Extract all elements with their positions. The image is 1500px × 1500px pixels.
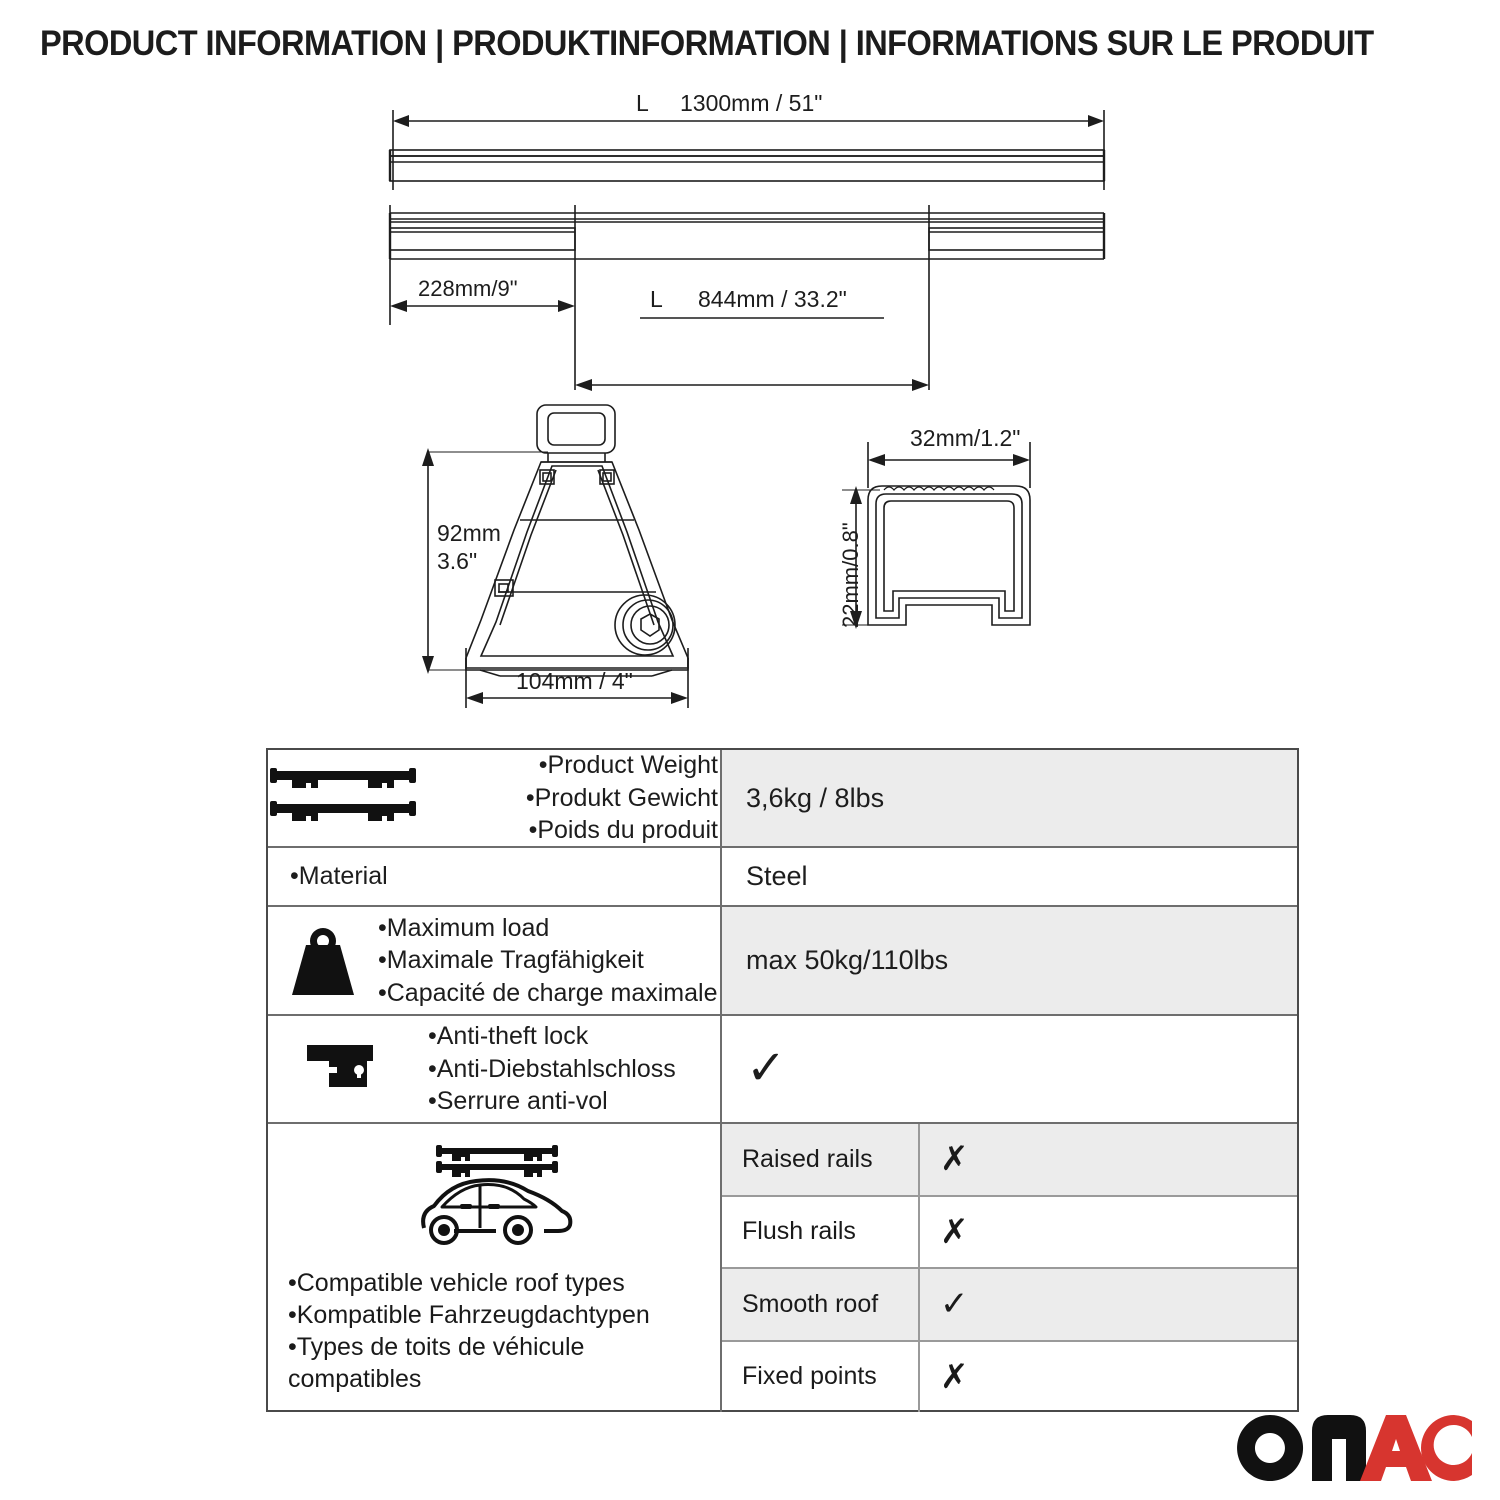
roof-type-value: ✗ (918, 1124, 1297, 1195)
roof-types-subtable: Raised rails ✗ Flush rails ✗ Smooth roof… (720, 1124, 1297, 1412)
vehicle-labels: •Compatible vehicle roof types •Kompatib… (268, 1267, 650, 1395)
lock-icon (268, 1041, 428, 1097)
span-value: 844mm / 33.2" (698, 286, 847, 313)
roof-type-name: Smooth roof (722, 1269, 918, 1340)
foot-offset-value: 228mm/9" (418, 276, 518, 302)
status-badge: ✗ (940, 1360, 969, 1394)
spec-label-material: •Material (290, 860, 388, 893)
roof-type-name: Fixed points (722, 1342, 918, 1413)
car-with-roof-bars-icon (408, 1142, 580, 1253)
foot-height-line1: 92mm (437, 520, 501, 547)
spec-label-fr: •Serrure anti-vol (428, 1085, 676, 1118)
spec-label-fr: •Capacité de charge maximale (378, 977, 717, 1010)
spec-label-de: •Produkt Gewicht (418, 782, 718, 815)
spec-label-cell: •Maximum load •Maximale Tragfähigkeit •C… (268, 907, 720, 1014)
spec-label-cell: •Anti-theft lock •Anti-Diebstahlschloss … (268, 1016, 720, 1122)
spec-label-en: •Maximum load (378, 912, 717, 945)
status-badge: ✓ (746, 1045, 786, 1093)
vehicle-label-fr: •Types de toits de véhicule (288, 1331, 650, 1363)
roof-type-row-flush-rails: Flush rails ✗ (722, 1197, 1297, 1270)
weight-icon (268, 923, 378, 999)
table-row: •Compatible vehicle roof types •Kompatib… (268, 1124, 1297, 1412)
spec-label-fr: •Poids du produit (418, 814, 718, 847)
roof-type-name: Flush rails (722, 1197, 918, 1268)
spec-label-cell: •Product Weight •Produkt Gewicht •Poids … (268, 750, 720, 846)
spec-value-material: Steel (720, 848, 1297, 905)
omac-logo (1236, 1413, 1476, 1483)
foot-height-line2: 3.6" (437, 548, 477, 575)
roof-type-name: Raised rails (722, 1124, 918, 1195)
table-row: •Product Weight •Produkt Gewicht •Poids … (268, 750, 1297, 848)
status-badge: ✗ (940, 1215, 969, 1249)
foot-width-value: 104mm / 4" (516, 668, 633, 695)
roof-type-value: ✓ (918, 1269, 1297, 1340)
spec-value-weight: 3,6kg / 8lbs (720, 750, 1297, 846)
spec-table: •Product Weight •Produkt Gewicht •Poids … (266, 748, 1299, 1412)
roof-type-row-smooth-roof: Smooth roof ✓ (722, 1269, 1297, 1342)
spec-labels: •Maximum load •Maximale Tragfähigkeit •C… (378, 912, 717, 1010)
vehicle-label-en: •Compatible vehicle roof types (288, 1267, 650, 1299)
roof-type-row-fixed-points: Fixed points ✗ (722, 1342, 1297, 1413)
vehicle-label-cell: •Compatible vehicle roof types •Kompatib… (268, 1124, 720, 1412)
span-prefix: L (650, 286, 663, 313)
spec-labels: •Material (268, 860, 388, 893)
roof-type-value: ✗ (918, 1342, 1297, 1413)
bar-length-prefix: L (636, 90, 649, 117)
vehicle-label-de: •Kompatible Fahrzeugdachtypen (288, 1299, 650, 1331)
spec-value-max-load: max 50kg/110lbs (720, 907, 1297, 1014)
table-row: •Material Steel (268, 848, 1297, 907)
bar-length-value: 1300mm / 51" (680, 90, 822, 117)
spec-label-de: •Anti-Diebstahlschloss (428, 1053, 676, 1086)
vehicle-label-fr-cont: compatibles (288, 1363, 650, 1395)
spec-label-cell: •Material (268, 848, 720, 905)
logo-dark-part (1237, 1415, 1366, 1481)
status-badge: ✓ (940, 1287, 969, 1321)
spec-labels: •Product Weight •Produkt Gewicht •Poids … (418, 749, 720, 847)
technical-drawings: L 1300mm / 51" 228mm/9" L 844mm / 33.2" … (0, 80, 1500, 740)
drawing-svg (0, 80, 1500, 740)
logo-red-part (1360, 1415, 1472, 1481)
spec-label-de: •Maximale Tragfähigkeit (378, 944, 717, 977)
spec-labels: •Anti-theft lock •Anti-Diebstahlschloss … (428, 1020, 676, 1118)
roof-type-value: ✗ (918, 1197, 1297, 1268)
table-row: •Anti-theft lock •Anti-Diebstahlschloss … (268, 1016, 1297, 1124)
profile-width-value: 32mm/1.2" (910, 425, 1020, 452)
spec-label-en: •Product Weight (418, 749, 718, 782)
spec-label-en: •Anti-theft lock (428, 1020, 676, 1053)
page-title: PRODUCT INFORMATION | PRODUKTINFORMATION… (40, 24, 1365, 64)
crossbars-icon (268, 763, 418, 833)
profile-height-value: 22mm/0.8" (838, 522, 864, 628)
status-badge: ✗ (940, 1142, 969, 1176)
spec-value-lock-cell: ✓ (720, 1016, 1297, 1122)
table-row: •Maximum load •Maximale Tragfähigkeit •C… (268, 907, 1297, 1016)
roof-type-row-raised-rails: Raised rails ✗ (722, 1124, 1297, 1197)
